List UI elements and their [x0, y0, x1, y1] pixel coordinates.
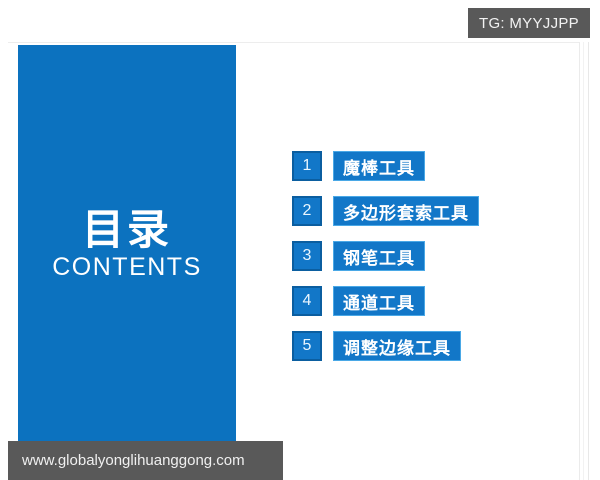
page-edge-line: [579, 42, 580, 480]
toc-item-4[interactable]: 4 通道工具: [292, 286, 572, 316]
toc-item-2[interactable]: 2 多边形套索工具: [292, 196, 572, 226]
contents-title-en: CONTENTS: [52, 254, 202, 282]
page-edge-line: [588, 42, 589, 480]
contents-title-cn: 目录: [82, 208, 172, 252]
slide-canvas: 目录 CONTENTS 1 魔棒工具 2 多边形套索工具 3 钢笔工具 4 通道…: [8, 42, 580, 480]
contents-panel: 目录 CONTENTS: [18, 45, 236, 444]
toc-number-3: 3: [292, 241, 322, 271]
toc-item-3[interactable]: 3 钢笔工具: [292, 241, 572, 271]
toc-list: 1 魔棒工具 2 多边形套索工具 3 钢笔工具 4 通道工具 5 调整边缘工具: [292, 151, 572, 361]
toc-item-1[interactable]: 1 魔棒工具: [292, 151, 572, 181]
toc-label-5[interactable]: 调整边缘工具: [333, 331, 461, 361]
toc-label-4[interactable]: 通道工具: [333, 286, 425, 316]
tg-watermark-badge: TG: MYYJJPP: [468, 8, 590, 38]
toc-item-5[interactable]: 5 调整边缘工具: [292, 331, 572, 361]
page-edge-line: [583, 42, 584, 480]
toc-number-5: 5: [292, 331, 322, 361]
site-url-watermark: www.globalyonglihuanggong.com: [8, 441, 283, 480]
toc-number-2: 2: [292, 196, 322, 226]
page-root: 目录 CONTENTS 1 魔棒工具 2 多边形套索工具 3 钢笔工具 4 通道…: [0, 0, 600, 480]
toc-number-4: 4: [292, 286, 322, 316]
toc-label-3[interactable]: 钢笔工具: [333, 241, 425, 271]
toc-number-1: 1: [292, 151, 322, 181]
toc-label-2[interactable]: 多边形套索工具: [333, 196, 479, 226]
toc-label-1[interactable]: 魔棒工具: [333, 151, 425, 181]
